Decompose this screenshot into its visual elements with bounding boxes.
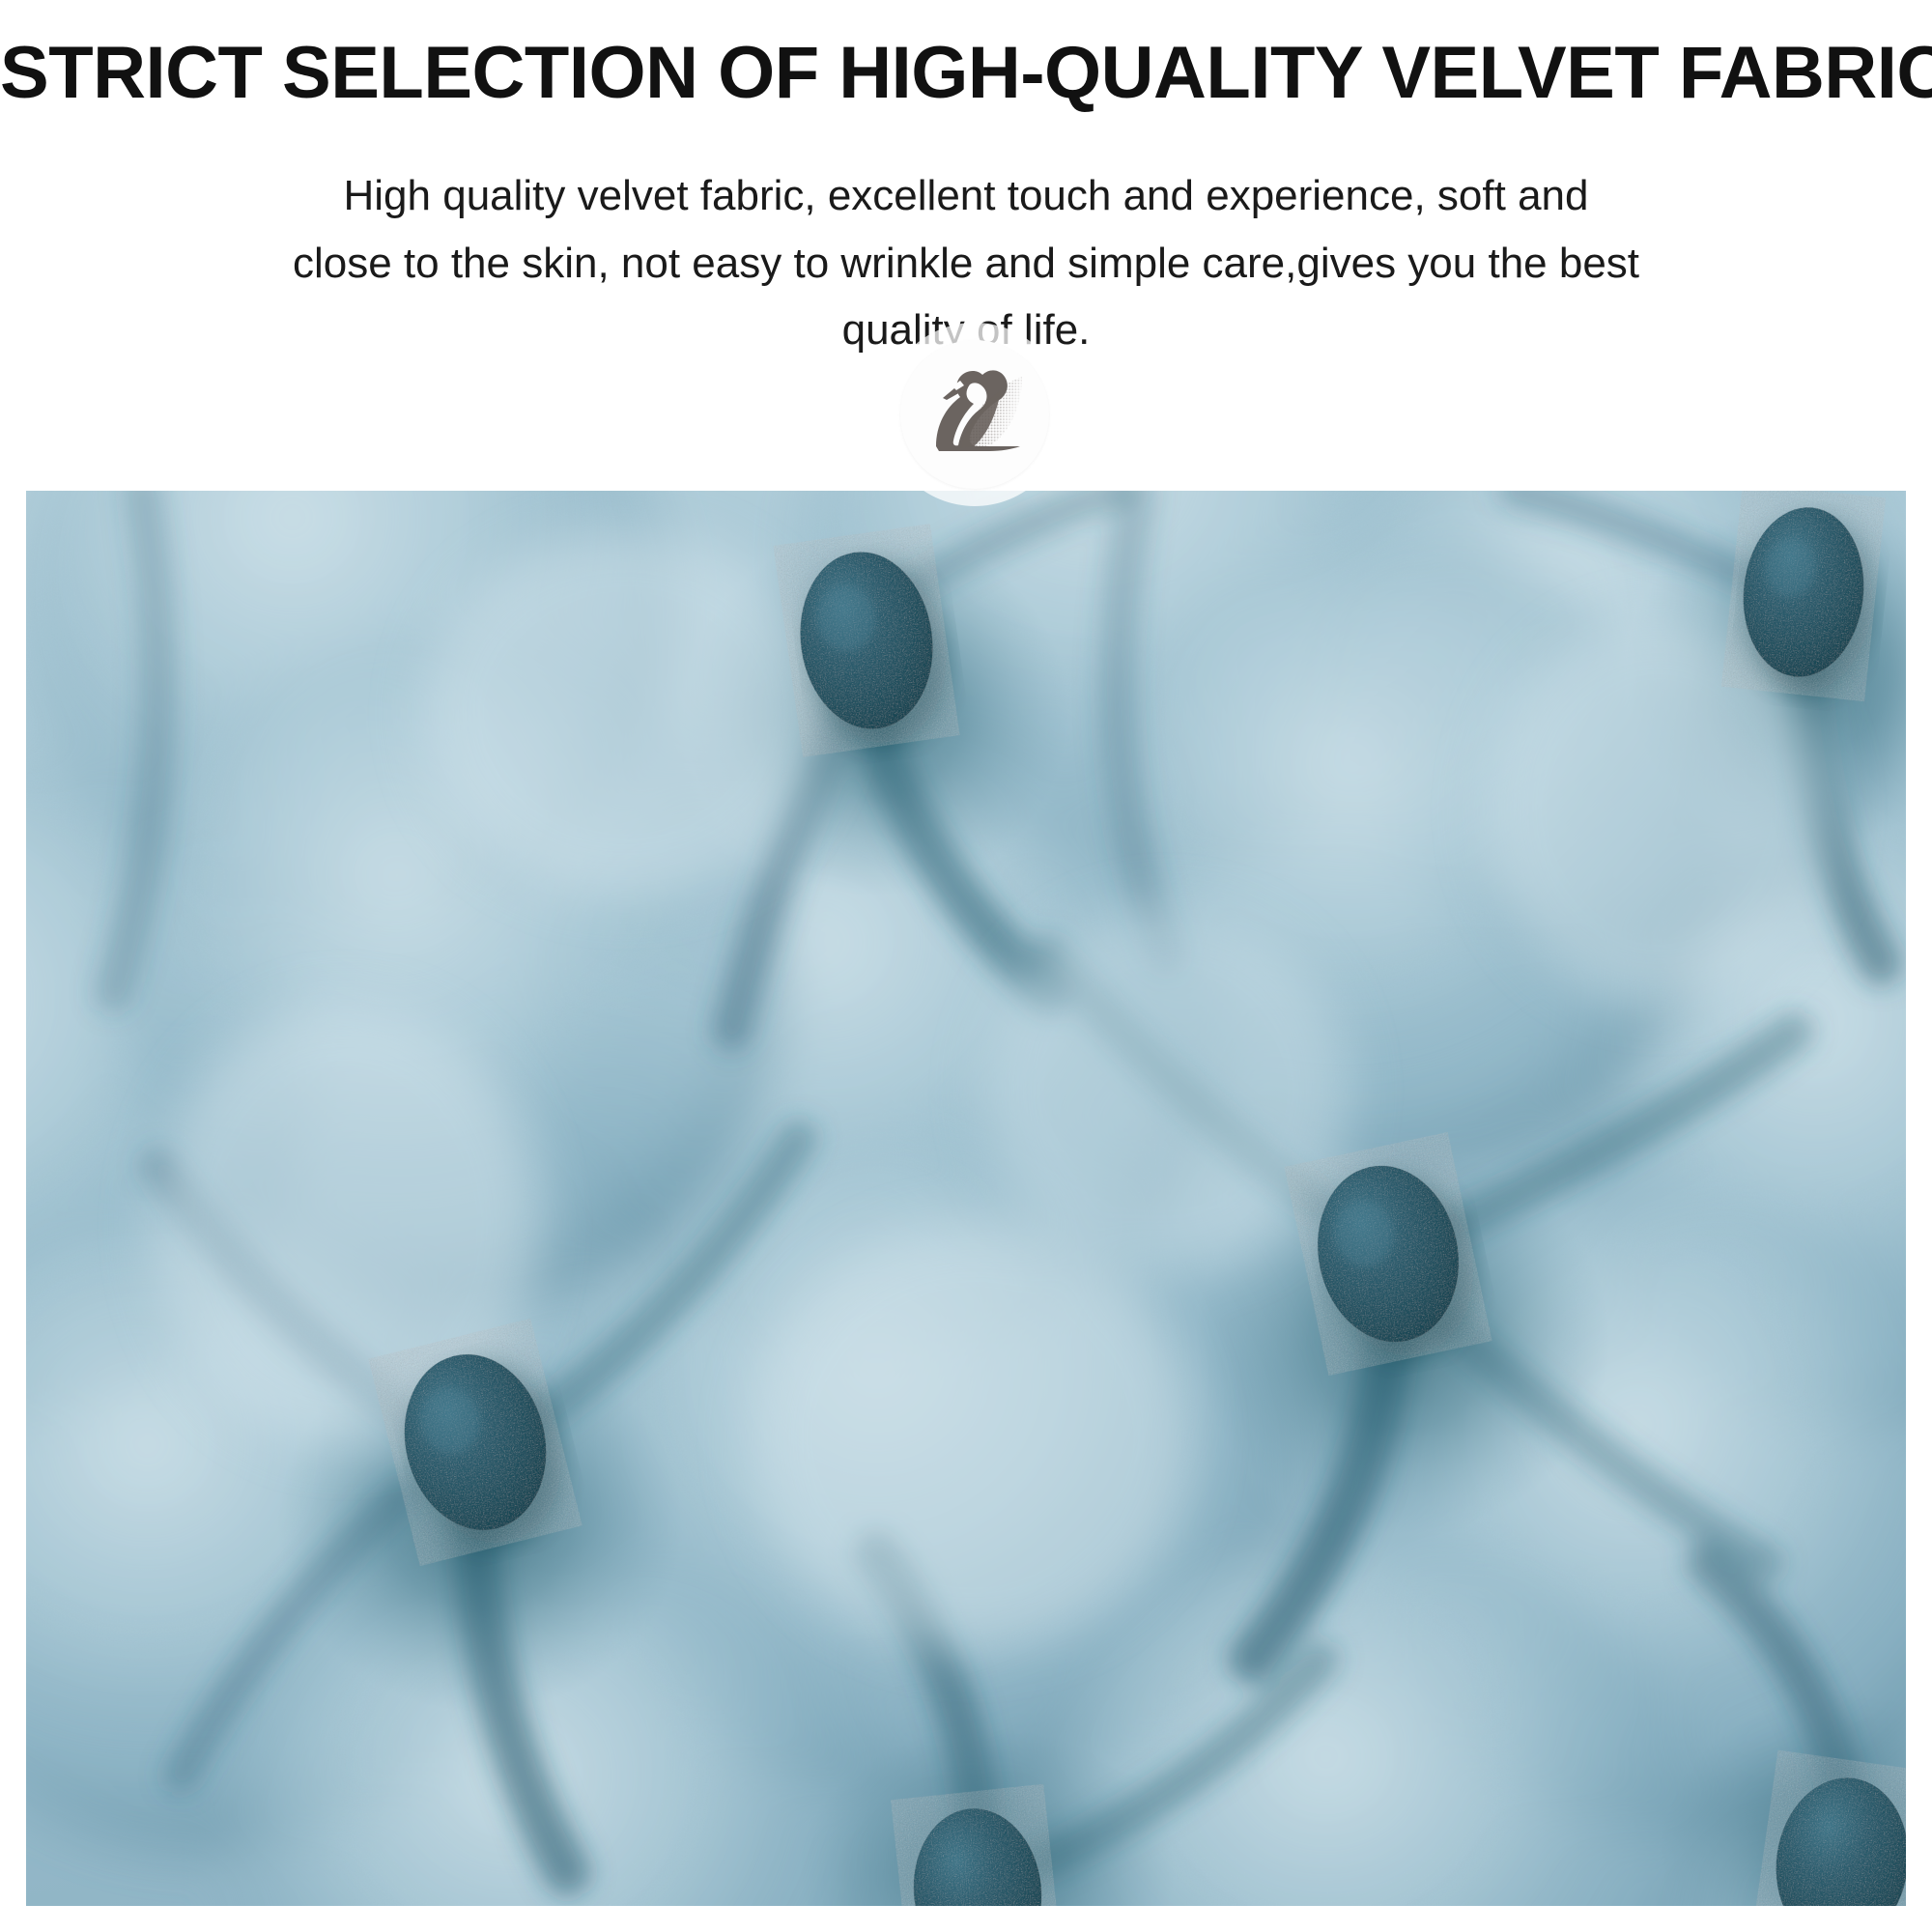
swan-logo-icon	[900, 340, 1049, 489]
brand-badge	[883, 323, 1066, 506]
fabric-photo	[26, 491, 1906, 1906]
page-title: STRICT SELECTION OF HIGH-QUALITY VELVET …	[0, 37, 1932, 110]
